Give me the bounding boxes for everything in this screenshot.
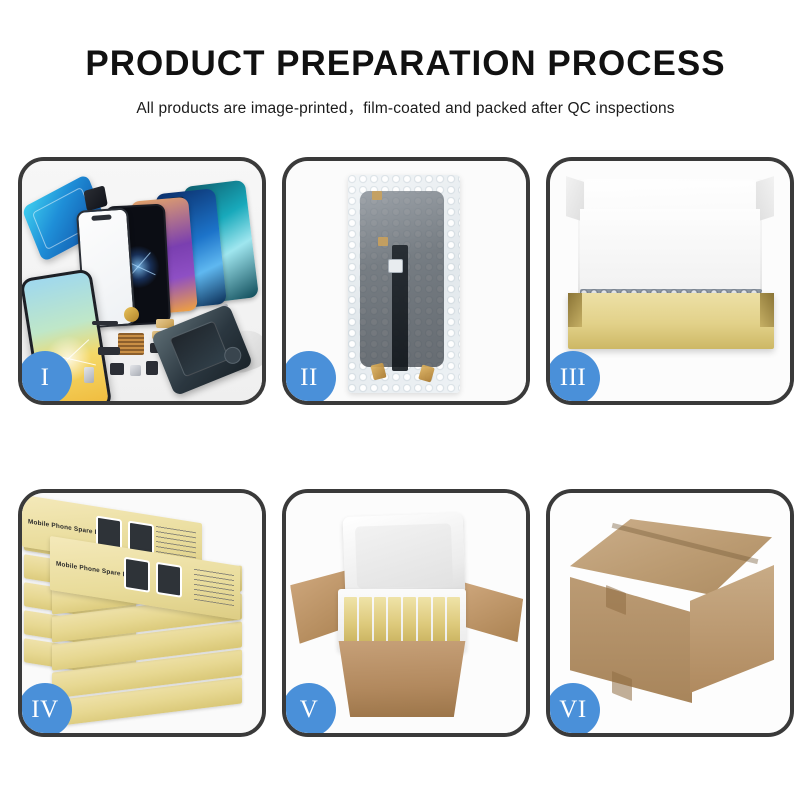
- speaker-part-icon: [124, 307, 139, 322]
- kraft-tray-icon: [568, 293, 774, 349]
- process-steps-grid: I II: [18, 157, 795, 737]
- button-part-icon: [146, 361, 158, 375]
- box-window-icon: [124, 557, 150, 593]
- step-badge-5: V: [282, 683, 336, 737]
- box-spec-text: [194, 568, 234, 606]
- chip-part-icon: [388, 259, 403, 273]
- kraft-box-item: [447, 597, 460, 643]
- step-panel-4: Mobile Phone Spare Parts Mobile Phone Sp…: [18, 489, 266, 737]
- step-panel-3: III: [546, 157, 794, 405]
- step-panel-2: II: [282, 157, 530, 405]
- kraft-box-item: [403, 597, 416, 643]
- step-badge-3: III: [546, 351, 600, 405]
- kraft-box-item: [388, 597, 401, 643]
- foam-lid-icon: [343, 513, 466, 599]
- kraft-boxes-inside: [344, 597, 460, 643]
- product-preparation-page: PRODUCT PREPARATION PROCESS All products…: [0, 0, 811, 811]
- kraft-box-item: [418, 597, 431, 643]
- gold-connector-icon: [418, 364, 435, 382]
- flex-cable-part-icon: [92, 321, 118, 325]
- step-badge-1: I: [18, 351, 72, 405]
- flex-cable-part-icon: [98, 347, 120, 355]
- kraft-box-item: [344, 597, 357, 643]
- step-panel-6: VI: [546, 489, 794, 737]
- tape-tab-icon: [372, 191, 382, 200]
- page-header: PRODUCT PREPARATION PROCESS All products…: [0, 0, 811, 118]
- kraft-box-item: [359, 597, 372, 643]
- small-part-icon: [84, 367, 94, 383]
- camera-part-icon: [110, 363, 124, 375]
- step-panel-5: V: [282, 489, 530, 737]
- metal-part-icon: [130, 365, 141, 376]
- page-subtitle: All products are image-printed，film-coat…: [0, 96, 811, 118]
- mesh-part-icon: [118, 333, 144, 355]
- kraft-box-item: [433, 597, 446, 643]
- bubble-wrap-icon: [348, 175, 460, 393]
- step-badge-4: IV: [18, 683, 72, 737]
- box-window-icon: [156, 562, 182, 598]
- step-panel-1: I: [18, 157, 266, 405]
- foam-sheet-icon: [580, 209, 760, 295]
- page-title: PRODUCT PREPARATION PROCESS: [0, 44, 811, 84]
- step-badge-6: VI: [546, 683, 600, 737]
- carton-body-icon: [330, 641, 474, 717]
- tape-tab-icon: [378, 237, 388, 246]
- kraft-box-item: [374, 597, 387, 643]
- step-badge-2: II: [282, 351, 336, 405]
